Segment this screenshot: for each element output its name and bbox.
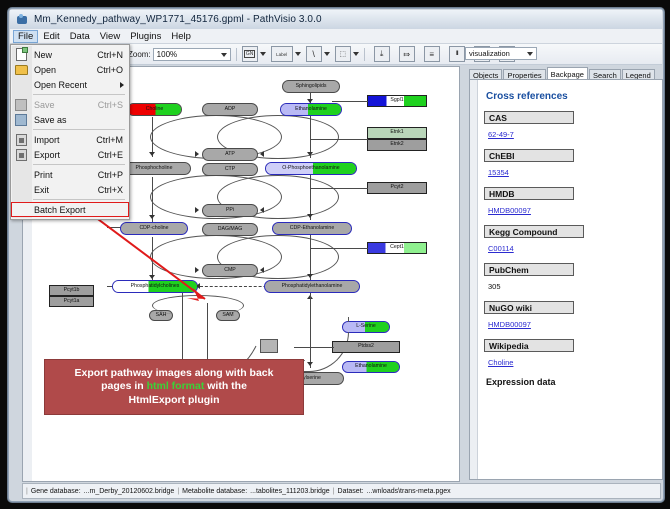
toolbar-separator-2 (364, 48, 365, 61)
right-sidebar: Objects Properties Backpage Search Legen… (465, 66, 663, 480)
backpage-content: Cross references CAS 62-49-7 ChEBI 15354… (478, 80, 662, 479)
gene-etnk2[interactable]: Etnk2 (367, 139, 427, 151)
save-as-icon (11, 112, 31, 127)
callout-text: Export pathway images along with back pa… (69, 367, 280, 406)
cross-references-title: Cross references (486, 91, 656, 102)
export-icon (11, 147, 31, 162)
xref-value: 305 (488, 282, 501, 291)
edge-gene-etnk (310, 139, 368, 140)
gene-pcyt1a[interactable]: Pcyt1a (49, 296, 94, 307)
node-ethanolamine[interactable]: Ethanolamine (280, 103, 342, 116)
menu-item-save-as[interactable]: Save as (11, 112, 129, 127)
arrow-down-5 (307, 152, 313, 156)
metabolite-db-value: ...tabolites_111203.bridge (250, 488, 330, 495)
gene-db-value: ...m_Derby_20120602.bridge (84, 488, 175, 495)
gene-sgpl1[interactable]: Sgpl1 (367, 95, 427, 107)
visualization-select[interactable]: visualization (465, 47, 537, 60)
arrow-down-6 (307, 214, 313, 218)
edge-gene-cept1 (310, 248, 368, 249)
menu-item-exit[interactable]: Exit Ctrl+X (11, 182, 129, 197)
panel-scrollbar[interactable] (470, 80, 478, 479)
node-ppi[interactable]: PPi (202, 204, 258, 217)
arrow-down-3 (149, 275, 155, 279)
visualization-value: visualization (469, 49, 510, 58)
menu-separator-2 (33, 129, 125, 130)
menu-separator-4 (33, 199, 125, 200)
import-icon (11, 132, 31, 147)
submenu-arrow-icon (120, 82, 124, 88)
xref-source-label: HMDB (484, 187, 574, 200)
application-window: Mm_Kennedy_pathway_WP1771_45176.gpml - P… (8, 8, 664, 502)
new-document-icon (11, 47, 31, 62)
arrow-down-8 (307, 362, 313, 366)
node-ethanolamine-2[interactable]: Ethanolamine (342, 361, 400, 373)
gene-pcyt1b[interactable]: Pcyt1b (49, 285, 94, 296)
menu-item-new[interactable]: New Ctrl+N (11, 47, 129, 62)
status-divider: | (333, 488, 335, 495)
gene-etnk1[interactable]: Etnk1 (367, 127, 427, 139)
arrow-right-ppi (195, 207, 199, 213)
arrow-down-2 (149, 215, 155, 219)
line-dropdown-icon[interactable] (324, 52, 330, 56)
screenshot-root: Mm_Kennedy_pathway_WP1771_45176.gpml - P… (0, 0, 670, 509)
edge-gene-pcyt2 (310, 188, 368, 189)
menu-data[interactable]: Data (65, 30, 95, 43)
xref-source-label: ChEBI (484, 149, 574, 162)
chevron-down-icon (527, 52, 533, 56)
shape-tool-icon[interactable]: ⬚ (335, 46, 351, 62)
label-tool-icon[interactable]: Label (271, 46, 293, 62)
arrow-left-cmp (260, 267, 264, 273)
callout-annotation: Export pathway images along with back pa… (44, 359, 304, 415)
callout-line-2-post: with the (204, 380, 247, 392)
datanode-dropdown-icon[interactable] (260, 52, 266, 56)
edge-pe-ps (310, 293, 311, 368)
edge-gene-sgpl1 (332, 101, 368, 102)
dataset-label: Dataset: (338, 488, 364, 495)
line-tool-icon[interactable]: \ (306, 46, 322, 62)
menu-separator-1 (33, 94, 125, 95)
callout-line-2-pre: pages in (101, 380, 147, 392)
save-icon (11, 97, 31, 112)
node-choline[interactable]: Choline (127, 103, 182, 116)
zoom-value: 100% (157, 50, 177, 59)
arrow-down-1 (149, 152, 155, 156)
zoom-select[interactable]: 100% (153, 48, 231, 61)
node-phosphatidylethanolamine[interactable]: Phosphatidylethanolamine (264, 280, 360, 293)
xref-link[interactable]: Choline (488, 358, 513, 367)
expression-data-title: Expression data (486, 377, 656, 387)
spacer-icon (11, 167, 31, 182)
node-adp[interactable]: ADP (202, 103, 258, 116)
xref-source-label: PubChem (484, 263, 574, 276)
menu-help[interactable]: Help (166, 30, 196, 43)
menu-view[interactable]: View (95, 30, 125, 43)
node-phosphatidylcholines[interactable]: Phosphatidylcholines (112, 280, 198, 293)
menu-item-open[interactable]: Open Ctrl+O (11, 62, 129, 77)
status-divider: | (177, 488, 179, 495)
node-sphingolipids[interactable]: Sphingolipids (282, 80, 340, 93)
xref-source-label: Wikipedia (484, 339, 574, 352)
node-cdp-choline[interactable]: CDP-choline (120, 222, 188, 235)
label-dropdown-icon[interactable] (295, 52, 301, 56)
align-left-icon[interactable]: ⤇ (399, 46, 415, 62)
zoom-label: Zoom: (128, 50, 151, 59)
menu-item-export[interactable]: Export Ctrl+E (11, 147, 129, 162)
spacer-icon (11, 202, 31, 217)
gene-pcyt2[interactable]: Pcyt2 (367, 182, 427, 194)
node-cmp[interactable]: CMP (202, 264, 258, 277)
node-o-phosphoethanolamine[interactable]: O-Phosphoethanolamine (265, 162, 357, 175)
menu-item-import[interactable]: Import Ctrl+M (11, 132, 129, 147)
file-menu-dropdown: New Ctrl+N Open Ctrl+O Open Recent Save … (10, 44, 130, 220)
xref-source-label: NuGO wiki (484, 301, 574, 314)
xref-cas: CAS 62-49-7 (484, 111, 656, 142)
arrow-left-atp (260, 151, 264, 157)
gene-db-label: Gene database: (31, 488, 81, 495)
status-divider: | (26, 488, 28, 495)
gene-ptdss2[interactable]: Ptdss2 (332, 341, 400, 353)
gene-cept1[interactable]: Cept1 (367, 242, 427, 254)
xref-link[interactable]: 15354 (488, 168, 509, 177)
backpage-panel: Cross references CAS 62-49-7 ChEBI 15354… (469, 79, 663, 480)
toolbar-separator (236, 48, 237, 61)
xref-link[interactable]: C00114 (488, 244, 514, 253)
xref-source-label: CAS (484, 111, 574, 124)
distribute-icon[interactable]: ≡ (424, 46, 440, 62)
metabolite-db-label: Metabolite database: (182, 488, 247, 495)
menu-item-open-recent[interactable]: Open Recent (11, 77, 129, 92)
arrow-right-cmp (195, 267, 199, 273)
xref-pubchem: PubChem 305 (484, 263, 656, 294)
node-cdp-ethanolamine[interactable]: CDP-Ethanolamine (272, 222, 352, 235)
node-dag-mag[interactable]: DAG/MAG (202, 223, 258, 236)
menu-file[interactable]: File (13, 30, 38, 43)
spacer-icon (11, 182, 31, 197)
xref-link[interactable]: HMDB00097 (488, 206, 531, 215)
dataset-value: ...wnloads\trans-meta.pgex (367, 488, 451, 495)
datanode-tool-icon[interactable]: GN (242, 46, 258, 62)
align-top-icon[interactable]: ⤓ (374, 46, 390, 62)
arrow-right-atp (195, 151, 199, 157)
title-bar: Mm_Kennedy_pathway_WP1771_45176.gpml - P… (10, 10, 662, 30)
status-bar: | Gene database: ...m_Derby_20120602.bri… (22, 483, 661, 499)
xref-kegg: Kegg Compound C00114 (484, 225, 656, 256)
sidebar-tabs: Objects Properties Backpage Search Legen… (469, 66, 663, 80)
callout-line-1: Export pathway images along with back (75, 367, 274, 379)
window-title: Mm_Kennedy_pathway_WP1771_45176.gpml - P… (34, 14, 322, 25)
menu-separator-3 (33, 164, 125, 165)
menu-item-save[interactable]: Save Ctrl+S (11, 97, 129, 112)
callout-line-3: HtmlExport plugin (129, 394, 220, 406)
edge-gene-ptdss2 (294, 347, 334, 348)
xref-source-label: Kegg Compound (484, 225, 584, 238)
menu-bar: File Edit Data View Plugins Help (10, 29, 662, 44)
xref-link[interactable]: 62-49-7 (488, 130, 514, 139)
menu-edit[interactable]: Edit (38, 30, 64, 43)
xref-chebi: ChEBI 15354 (484, 149, 656, 180)
menu-item-batch-export[interactable]: Batch Export (11, 202, 129, 217)
node-atp[interactable]: ATP (202, 148, 258, 161)
arrow-left-ppi (260, 207, 264, 213)
xref-nugo: NuGO wiki HMDB00097 (484, 301, 656, 332)
node-ctp[interactable]: CTP (202, 163, 258, 176)
node-l-serine[interactable]: L-Serine (342, 321, 390, 333)
same-width-icon[interactable]: III (449, 46, 465, 62)
xref-wikipedia: Wikipedia Choline (484, 339, 656, 370)
xref-hmdb: HMDB HMDB00097 (484, 187, 656, 218)
spacer-icon (11, 77, 31, 92)
chevron-down-icon (221, 53, 227, 57)
pathvisio-icon (16, 13, 29, 26)
arrow-down-7 (307, 274, 313, 278)
menu-plugins[interactable]: Plugins (125, 30, 166, 43)
menu-item-print[interactable]: Print Ctrl+P (11, 167, 129, 182)
xref-link[interactable]: HMDB00097 (488, 320, 531, 329)
callout-highlight: html format (147, 380, 205, 392)
shape-dropdown-icon[interactable] (353, 52, 359, 56)
open-folder-icon (11, 62, 31, 77)
